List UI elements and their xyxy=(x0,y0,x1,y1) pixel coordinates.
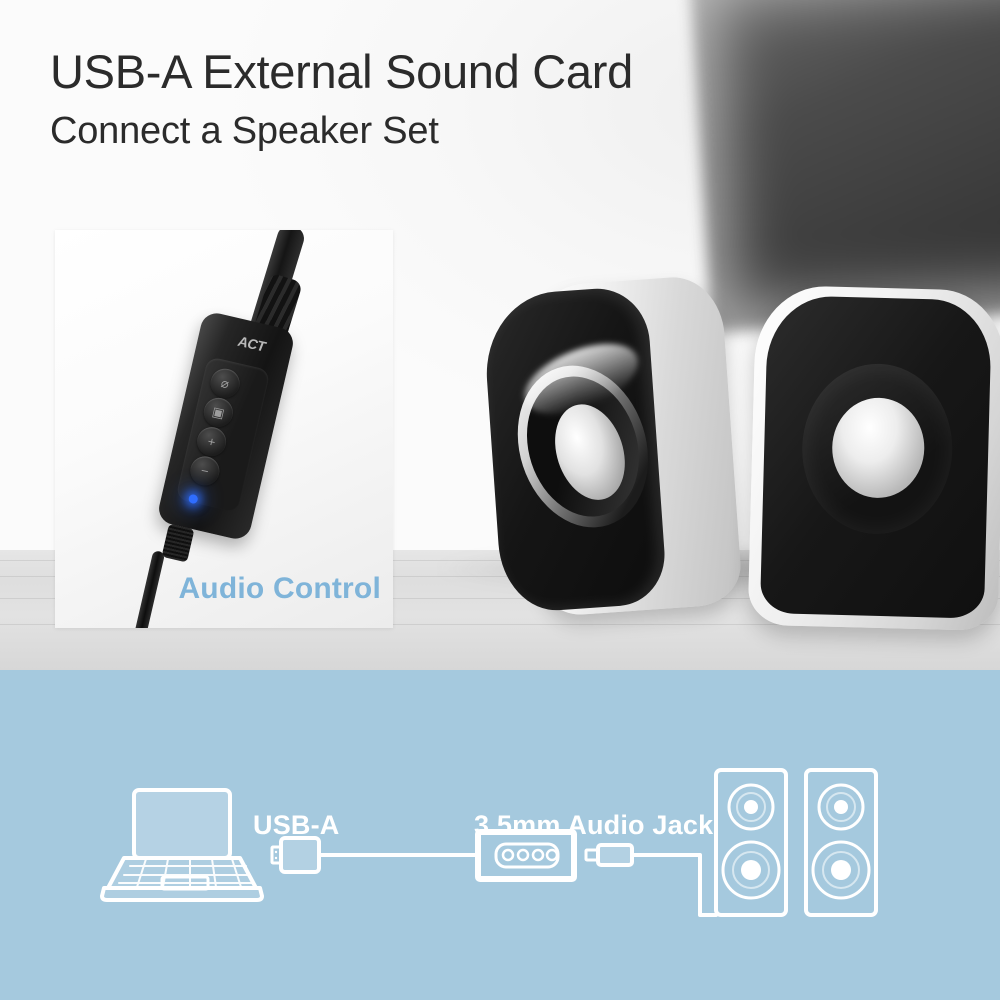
act-brand-logo: ACT xyxy=(236,333,268,354)
background-laptop-screen xyxy=(689,0,1000,333)
photo-speaker-left xyxy=(481,274,743,620)
cable-adapter-to-speakers xyxy=(632,855,716,915)
hero-photo: ACT ⌀ ▣ + − Audio Control xyxy=(0,0,1000,670)
page-subtitle: Connect a Speaker Set xyxy=(50,110,439,153)
usb-a-connector-icon xyxy=(272,838,319,872)
photo-speaker-right xyxy=(748,285,1000,632)
inset-caption: Audio Control xyxy=(55,572,381,606)
audio-jack-plug-icon xyxy=(586,845,632,865)
diagram-label-usb: USB-A xyxy=(253,810,340,841)
page-title: USB-A External Sound Card xyxy=(50,44,633,99)
laptop-icon xyxy=(102,790,262,900)
inline-audio-control-module: ACT ⌀ ▣ + − xyxy=(156,310,296,542)
inset-product-photo: ACT ⌀ ▣ + − Audio Control xyxy=(55,230,393,628)
speaker-left-icon xyxy=(716,770,786,915)
diagram-label-audio-jack: 3.5mm Audio Jack xyxy=(474,810,713,841)
speaker-right-icon xyxy=(806,770,876,915)
product-marketing-image: ACT ⌀ ▣ + − Audio Control USB-A External… xyxy=(0,0,1000,1000)
plug-knurl xyxy=(162,524,195,563)
